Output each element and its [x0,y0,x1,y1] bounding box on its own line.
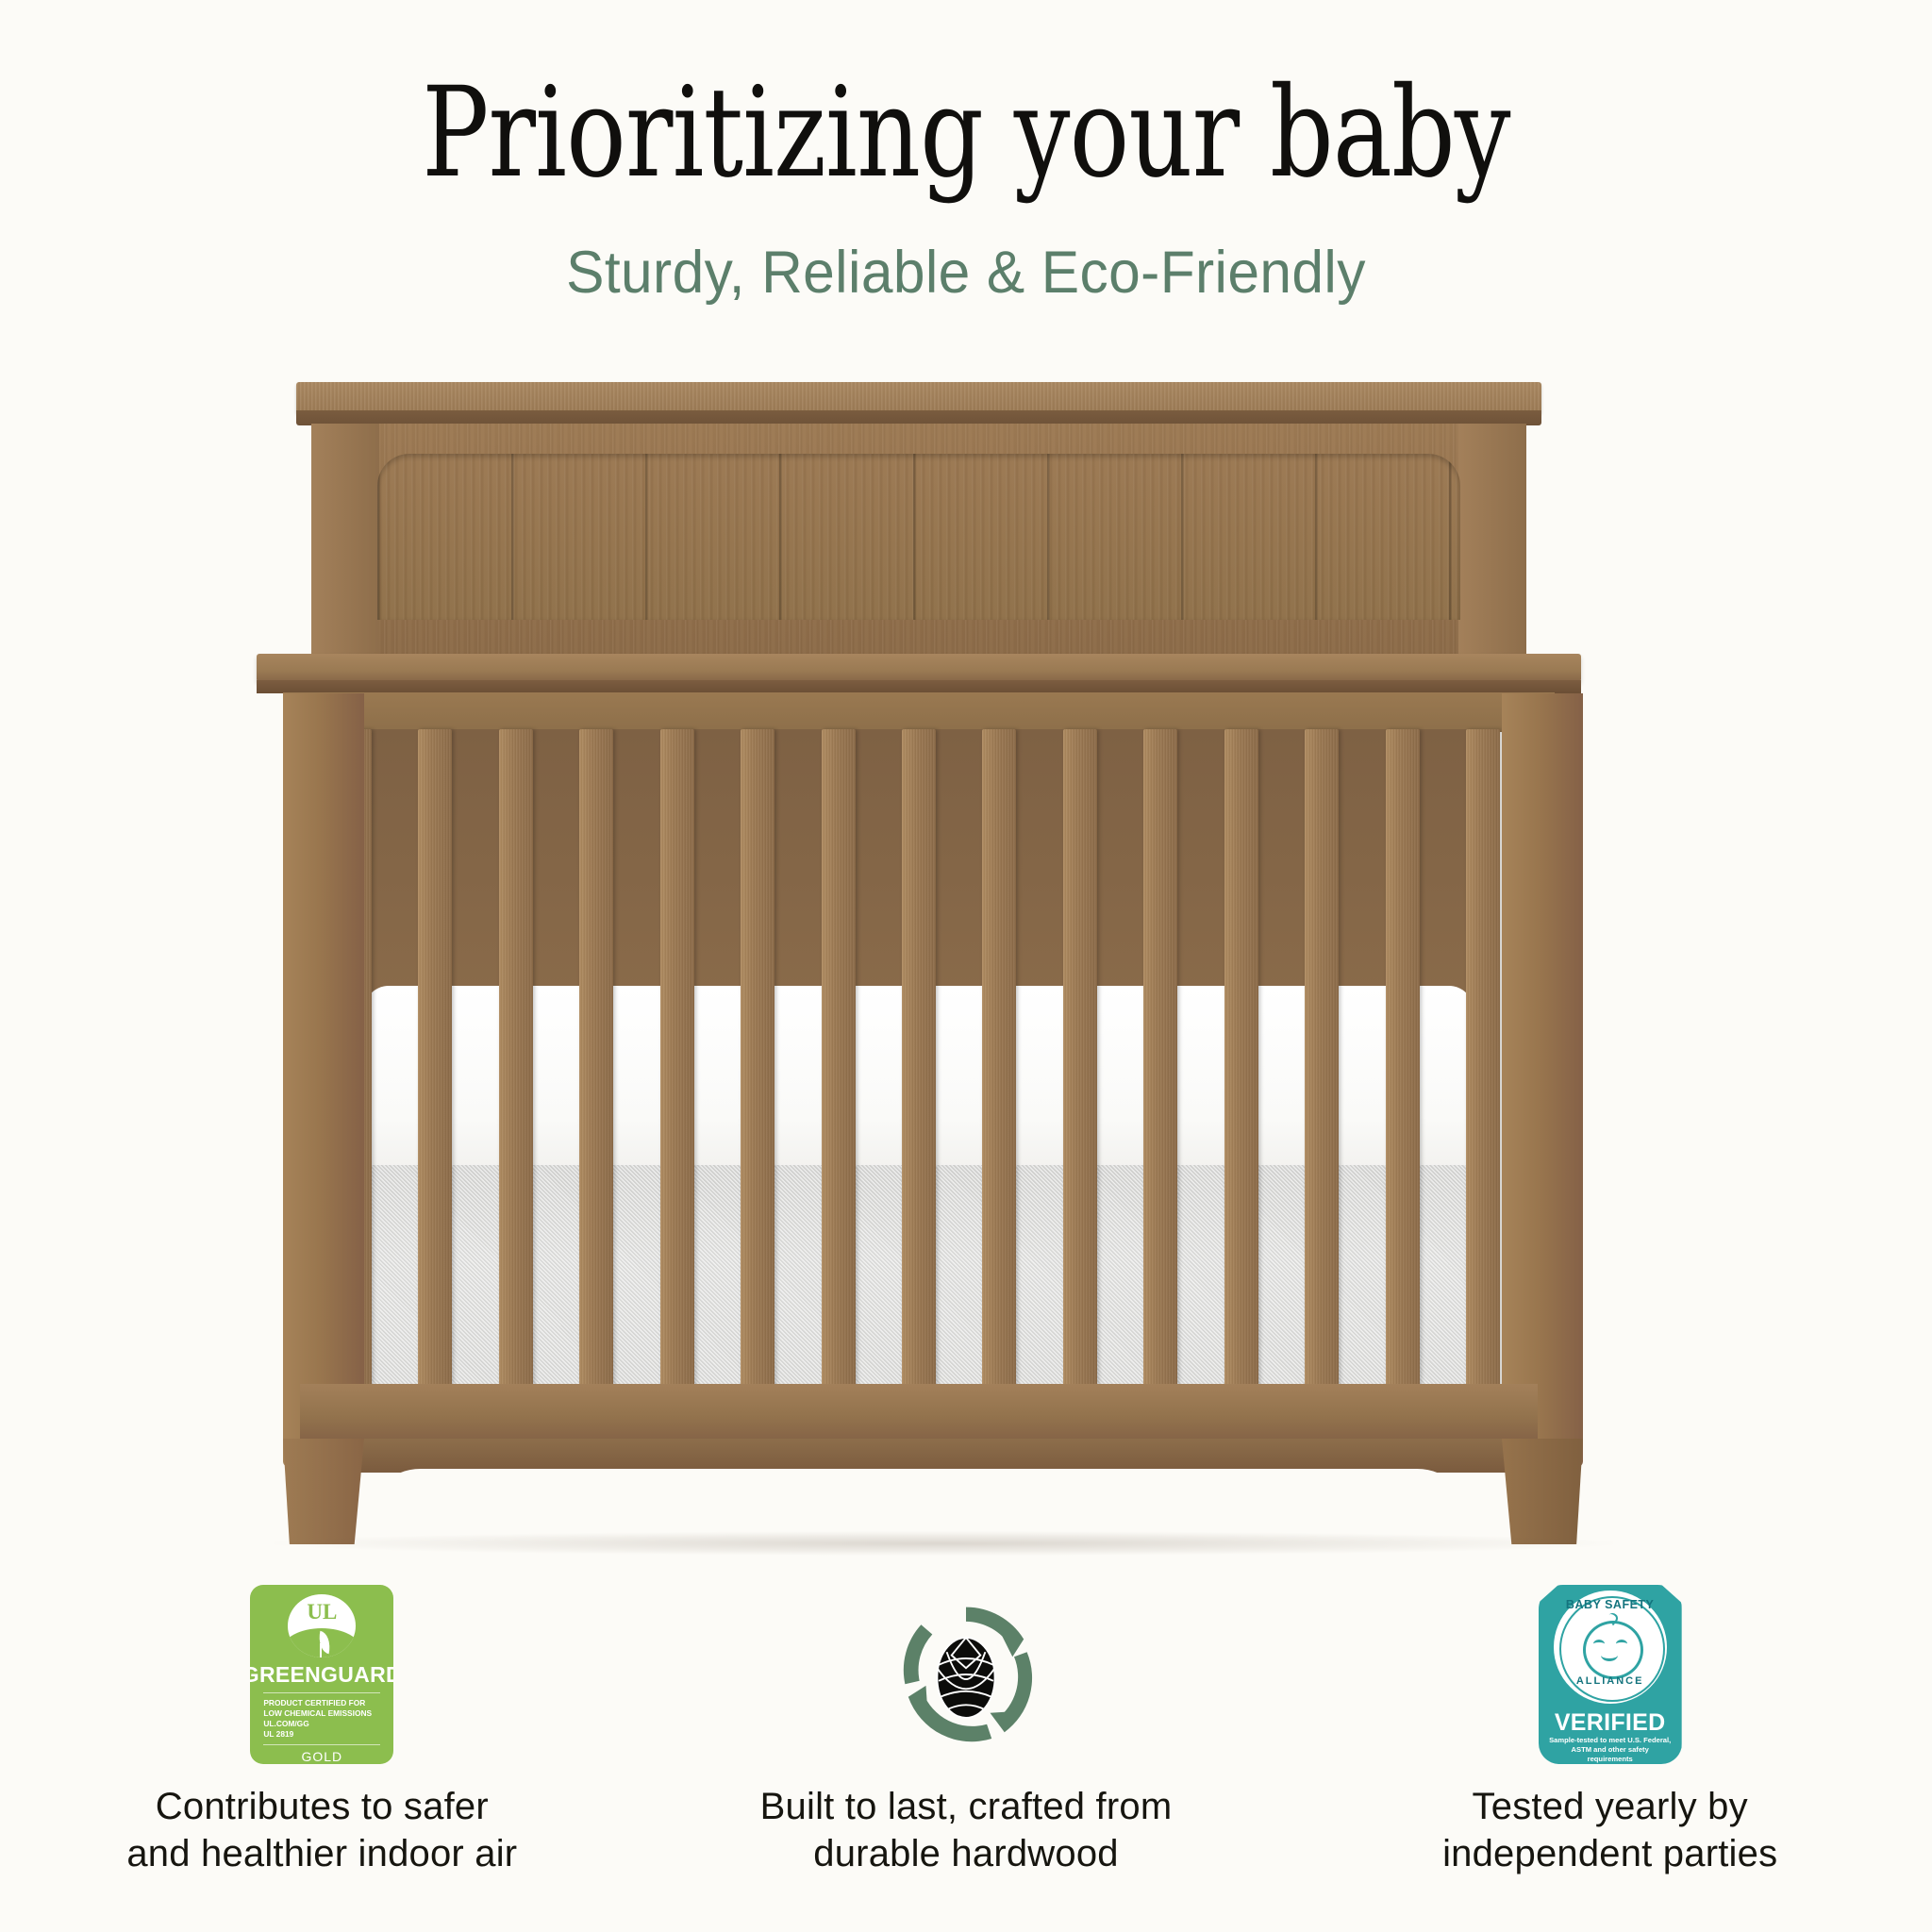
caption-line-2: and healthier indoor air [126,1830,517,1877]
ul-seal-icon: UL [288,1594,356,1657]
base-rail [300,1384,1538,1442]
crib-slats [338,729,1500,1401]
feature-safety-alliance: BABY SAFETY ALLIANCE VERIFIED Sample-tes… [1288,1585,1932,1924]
page-title: Prioritizing your baby [193,68,1739,200]
crib-slat [822,729,856,1401]
alliance-bottom-text: ALLIANCE [1539,1675,1682,1687]
greenguard-wordmark: GREENGUARD [250,1662,393,1688]
baby-eye-right-icon [1616,1640,1627,1648]
caption-line-2: durable hardwood [760,1830,1173,1877]
crib-slat [982,729,1016,1401]
crib-slat [1305,729,1339,1401]
marketing-canvas: Prioritizing your baby Sturdy, Reliable … [0,0,1932,1932]
upper-ledge-rail [257,654,1581,682]
divider-bottom [263,1744,380,1745]
fineprint-line-2: LOW CHEMICAL EMISSIONS [263,1708,380,1719]
crib-slat [660,729,694,1401]
leg-right [1502,1439,1583,1544]
crib-slat [418,729,452,1401]
fineprint-line-1: Sample-tested to meet U.S. Federal, [1548,1736,1673,1745]
leg-left [283,1439,364,1544]
caption-line-1: Built to last, crafted from [760,1783,1173,1830]
greenguard-badge: UL GREENGUARD PRODUCT CERTIFIED FOR LOW … [250,1585,393,1764]
headboard-stile-left [311,424,379,659]
crib-slat [902,729,936,1401]
alliance-fineprint: Sample-tested to meet U.S. Federal, ASTM… [1548,1736,1673,1765]
divider-top [263,1692,380,1693]
crib-slat [1063,729,1097,1401]
corner-post-right [1502,693,1583,1467]
fineprint-line-2: ASTM and other safety requirements [1548,1745,1673,1764]
base-rail-lower [300,1439,1538,1473]
caption-line-1: Contributes to safer [126,1783,517,1830]
fineprint-line-3: UL.COM/GG [263,1719,380,1729]
verified-label: VERIFIED [1539,1709,1682,1737]
upper-ledge-underside [257,680,1581,693]
feature-caption-greenguard: Contributes to safer and healthier indoo… [126,1783,517,1878]
feature-caption-safety: Tested yearly by independent parties [1442,1783,1777,1878]
crib-slat [1386,729,1420,1401]
crib-slat [499,729,533,1401]
caption-line-2: independent parties [1442,1830,1777,1877]
caption-line-1: Tested yearly by [1442,1783,1777,1830]
headboard-stile-right [1458,424,1526,659]
feature-row: UL GREENGUARD PRODUCT CERTIFIED FOR LOW … [0,1585,1932,1924]
feature-greenguard: UL GREENGUARD PRODUCT CERTIFIED FOR LOW … [0,1585,644,1924]
corner-post-left [283,693,364,1467]
fineprint-line-4: UL 2819 [263,1729,380,1740]
certification-level: GOLD [301,1749,342,1764]
greenguard-fineprint: PRODUCT CERTIFIED FOR LOW CHEMICAL EMISS… [263,1698,380,1740]
upper-rail-band [283,692,1555,732]
floor-shadow [274,1531,1613,1556]
crib-slat [1224,729,1258,1401]
alliance-top-text: BABY SAFETY [1539,1598,1682,1611]
leaf-stem-icon [320,1643,322,1657]
recycle-pinecone-icon [886,1594,1046,1755]
page-subtitle: Sturdy, Reliable & Eco-Friendly [39,241,1893,306]
feature-caption-hardwood: Built to last, crafted from durable hard… [760,1783,1173,1878]
baby-eye-left-icon [1593,1640,1605,1648]
crib-slat [1466,729,1500,1401]
fineprint-line-1: PRODUCT CERTIFIED FOR [263,1698,380,1708]
pinecone-recycle-badge [881,1585,1051,1764]
crib-slat [741,729,774,1401]
crib-slat [1143,729,1177,1401]
ul-mark-text: UL [288,1600,356,1624]
feature-hardwood: Built to last, crafted from durable hard… [644,1585,1289,1924]
product-image-crib [311,382,1632,1542]
baby-safety-alliance-badge: BABY SAFETY ALLIANCE VERIFIED Sample-tes… [1539,1585,1682,1764]
headboard-plank-panel [377,454,1460,620]
crib-slat [579,729,613,1401]
baby-smile-icon [1601,1649,1618,1661]
headboard-top-cap [296,382,1541,414]
